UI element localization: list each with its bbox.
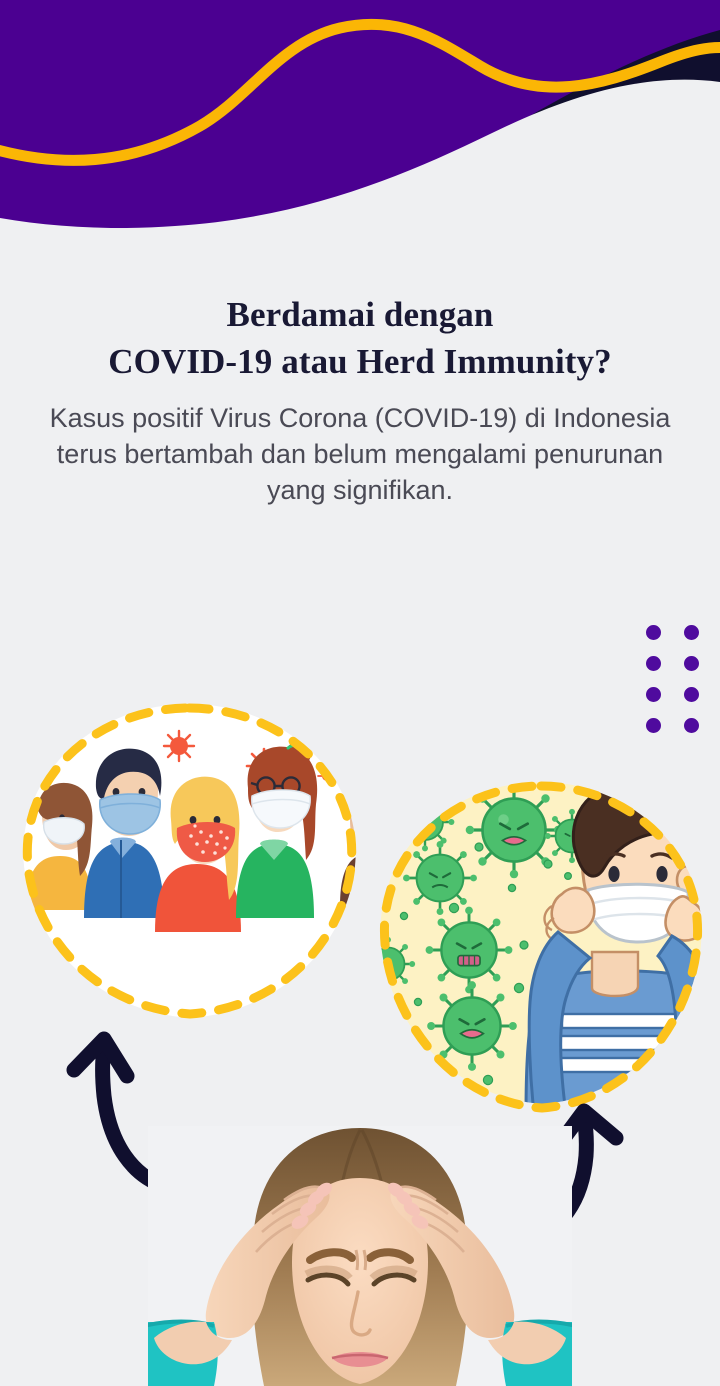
page-subtitle: Kasus positif Virus Corona (COVID-19) di… xyxy=(0,401,720,509)
grid-dot xyxy=(684,687,699,702)
grid-dot xyxy=(646,625,661,640)
grid-dot xyxy=(684,656,699,671)
grid-dot xyxy=(646,687,661,702)
shirt-stripes xyxy=(558,1014,706,1072)
man-putting-on-mask-illustration xyxy=(376,776,706,1114)
grid-dot xyxy=(684,625,699,640)
text-block: Berdamai dengan COVID-19 atau Herd Immun… xyxy=(0,292,720,509)
purple-dot-grid xyxy=(646,625,720,749)
group-wearing-masks-illustration xyxy=(14,698,364,1028)
page-title: Berdamai dengan COVID-19 atau Herd Immun… xyxy=(0,292,720,385)
wave-gold-line xyxy=(0,24,720,160)
stressed-woman-photo xyxy=(148,1126,572,1386)
wave-navy-shape xyxy=(330,30,720,250)
grid-dot xyxy=(646,718,661,733)
grid-dot xyxy=(646,656,661,671)
page-title-line-2: COVID-19 atau Herd Immunity? xyxy=(28,339,692,386)
page-title-line-1: Berdamai dengan xyxy=(28,292,692,339)
wave-purple-shape xyxy=(0,0,720,228)
grid-dot xyxy=(684,718,699,733)
wave-background-cut xyxy=(0,80,720,250)
infographic-poster: Berdamai dengan COVID-19 atau Herd Immun… xyxy=(0,0,720,1386)
decorative-wave-header xyxy=(0,0,720,250)
